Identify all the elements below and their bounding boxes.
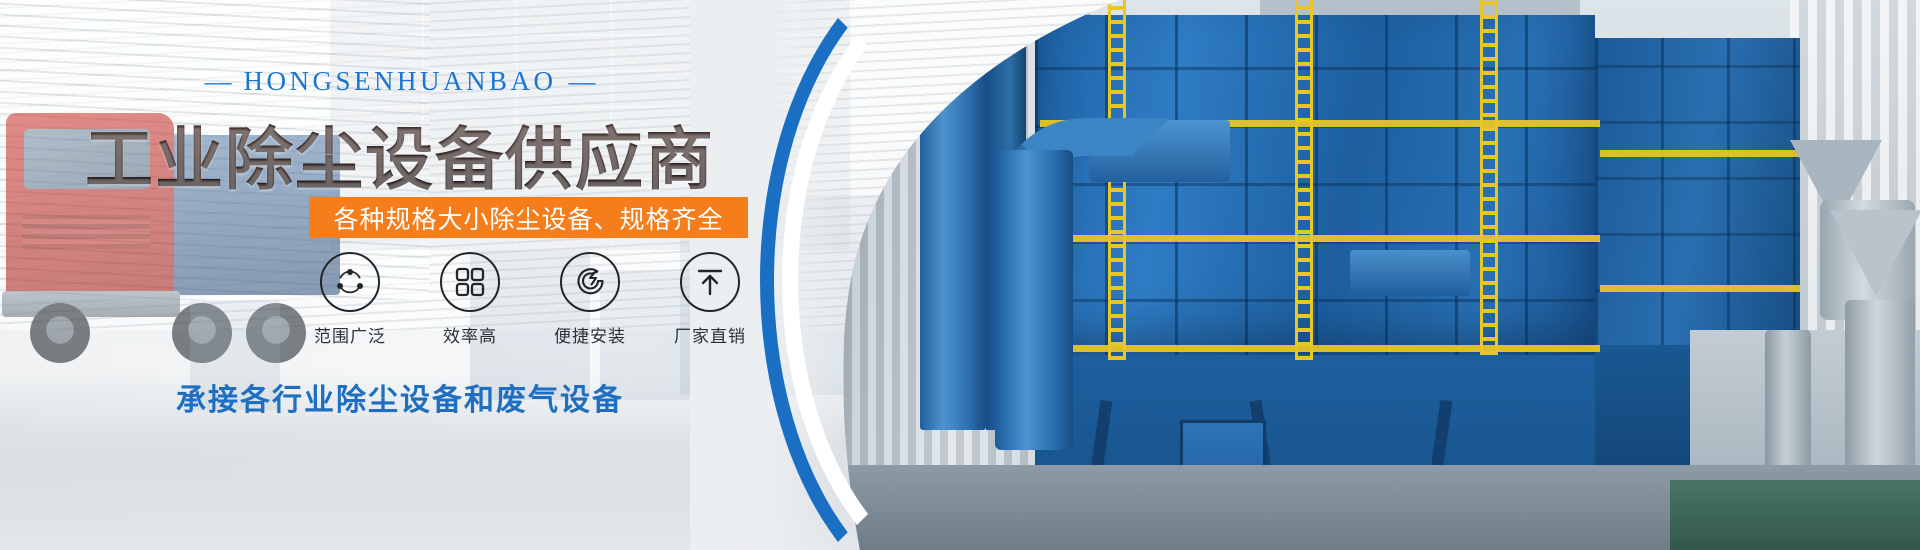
brand-eyebrow: —HONGSENHUANBAO— — [0, 66, 800, 97]
photo-blue-duct-small — [1350, 250, 1470, 296]
photo-cyclone-cone — [1830, 210, 1920, 296]
photo-yellow-ladder — [1295, 0, 1313, 360]
hero-orange-subtitle-bar: 各种规格大小除尘设备、规格齐全 — [309, 197, 748, 238]
eyebrow-dash-left: — — [204, 66, 231, 96]
feature-item-efficiency[interactable]: 效率高 — [420, 252, 520, 347]
photo-baghouse-secondary — [1595, 38, 1800, 348]
feature-label: 便捷安装 — [540, 322, 640, 347]
grid-four-squares-icon — [440, 252, 500, 312]
wrench-circular-icon — [560, 252, 620, 312]
orange-subtitle-text: 各种规格大小除尘设备、规格齐全 — [333, 200, 723, 236]
photo-yellow-railing — [1600, 285, 1800, 292]
eyebrow-dash-right: — — [569, 66, 596, 96]
arrow-up-bar-icon — [680, 252, 740, 312]
feature-item-direct-sales[interactable]: 厂家直销 — [660, 252, 760, 347]
hero-content: —HONGSENHUANBAO— 工业除尘设备供应商 各种规格大小除尘设备、规格… — [0, 0, 900, 550]
share-nodes-icon — [320, 252, 380, 312]
feature-label: 效率高 — [420, 322, 520, 347]
hero-subline: 承接各行业除尘设备和废气设备 — [0, 375, 800, 419]
hero-headline: 工业除尘设备供应商 — [0, 104, 800, 203]
feature-label: 厂家直销 — [660, 322, 760, 347]
photo-yellow-railing — [1600, 150, 1800, 157]
feature-label: 范围广泛 — [300, 322, 400, 347]
feature-list: 范围广泛 效率高 — [300, 252, 760, 347]
photo-blue-duct-vertical — [995, 150, 1073, 450]
eyebrow-text: HONGSENHUANBAO — [243, 66, 556, 96]
photo-foreground-vegetation — [1670, 480, 1920, 550]
feature-item-range[interactable]: 范围广泛 — [300, 252, 400, 347]
hero-banner: —HONGSENHUANBAO— 工业除尘设备供应商 各种规格大小除尘设备、规格… — [0, 0, 1920, 550]
photo-yellow-ladder — [1480, 0, 1498, 355]
feature-item-installation[interactable]: 便捷安装 — [540, 252, 640, 347]
